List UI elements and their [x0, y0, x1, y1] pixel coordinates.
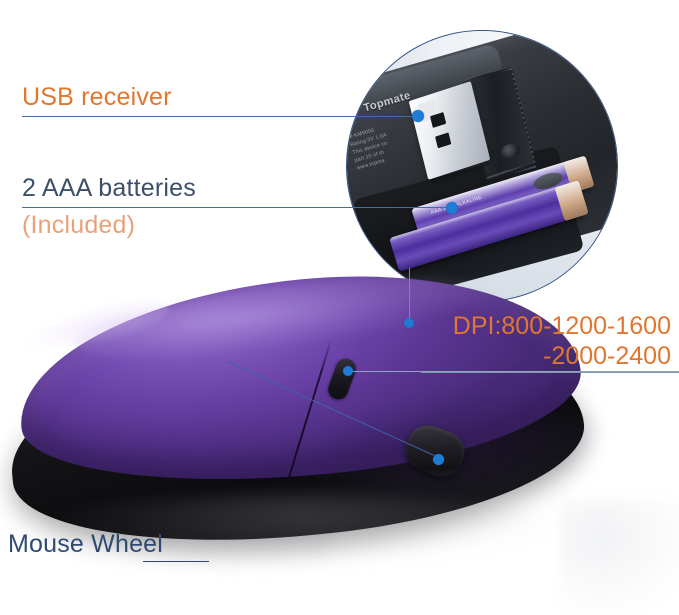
usb-contact-slot [430, 112, 447, 128]
callout-label-aaa-batteries: 2 AAA batteries [22, 176, 196, 201]
leader-line-dpi-vertical [409, 268, 410, 324]
inset-photo: Topmate M-KM9000Rating:3V 1.0AThis devic… [347, 31, 617, 301]
marker-dot-dpi-button [343, 366, 353, 376]
leader-line-aaa-batteries [22, 207, 454, 208]
callout-label-included: (Included) [22, 213, 135, 238]
callout-label-usb-receiver: USB receiver [22, 85, 172, 110]
marker-dot-aaa-batteries [446, 202, 458, 214]
callout-label-dpi: DPI:800-1200-1600 -2000-2400 [453, 312, 671, 371]
marker-dot-scroll-wheel [433, 454, 444, 465]
product-infographic: Topmate M-KM9000Rating:3V 1.0AThis devic… [0, 0, 679, 615]
callout-label-mouse-wheel: Mouse Wheel [8, 532, 163, 557]
marker-dot-usb-receiver [412, 110, 424, 122]
leader-line-wheel-horizontal [143, 561, 209, 562]
leader-line-usb-receiver [22, 116, 420, 117]
dpi-line-1: DPI:800-1200-1600 [453, 312, 671, 342]
usb-contact-slot [435, 133, 452, 149]
dpi-line-2: -2000-2400 [453, 342, 671, 372]
detail-inset-circle: Topmate M-KM9000Rating:3V 1.0AThis devic… [346, 30, 618, 302]
dpi-underline [421, 372, 679, 373]
marker-dot-dpi-anchor [404, 318, 414, 328]
